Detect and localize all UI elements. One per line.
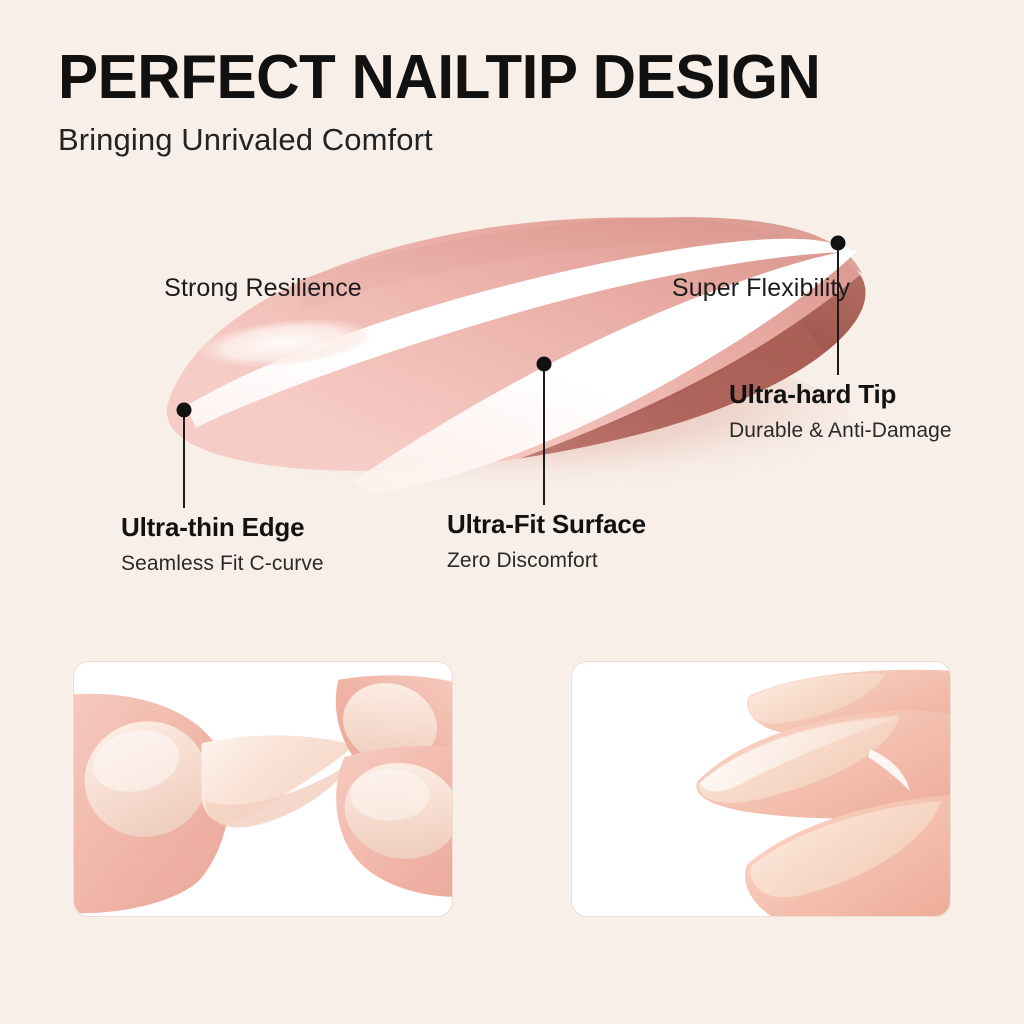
infographic-page: PERFECT NAILTIP DESIGN Bringing Unrivale…	[0, 0, 1024, 1024]
callout-ultra-fit-surface: Ultra-Fit Surface Zero Discomfort	[447, 509, 646, 573]
callout-ultra-thin-edge: Ultra-thin Edge Seamless Fit C-curve	[121, 512, 324, 576]
photo-panel-super-flexibility	[571, 661, 951, 917]
panel-caption-strong-resilience: Strong Resilience	[73, 274, 453, 303]
panel-caption-super-flexibility: Super Flexibility	[571, 274, 951, 303]
photo-strong-resilience	[74, 662, 452, 916]
page-title: PERFECT NAILTIP DESIGN	[58, 46, 950, 109]
callout-title: Ultra-hard Tip	[729, 379, 952, 410]
page-subtitle: Bringing Unrivaled Comfort	[58, 122, 978, 158]
callout-title: Ultra-thin Edge	[121, 512, 324, 543]
header: PERFECT NAILTIP DESIGN Bringing Unrivale…	[58, 46, 978, 158]
photo-super-flexibility	[572, 662, 950, 916]
demo-panels	[0, 661, 1024, 961]
callout-ultra-hard-tip: Ultra-hard Tip Durable & Anti-Damage	[729, 379, 952, 443]
callout-title: Ultra-Fit Surface	[447, 509, 646, 540]
callout-subtitle: Seamless Fit C-curve	[121, 552, 324, 576]
callout-subtitle: Durable & Anti-Damage	[729, 419, 952, 443]
photo-panel-strong-resilience	[73, 661, 453, 917]
callout-subtitle: Zero Discomfort	[447, 549, 646, 573]
nail-tip-illustration	[0, 160, 1024, 500]
